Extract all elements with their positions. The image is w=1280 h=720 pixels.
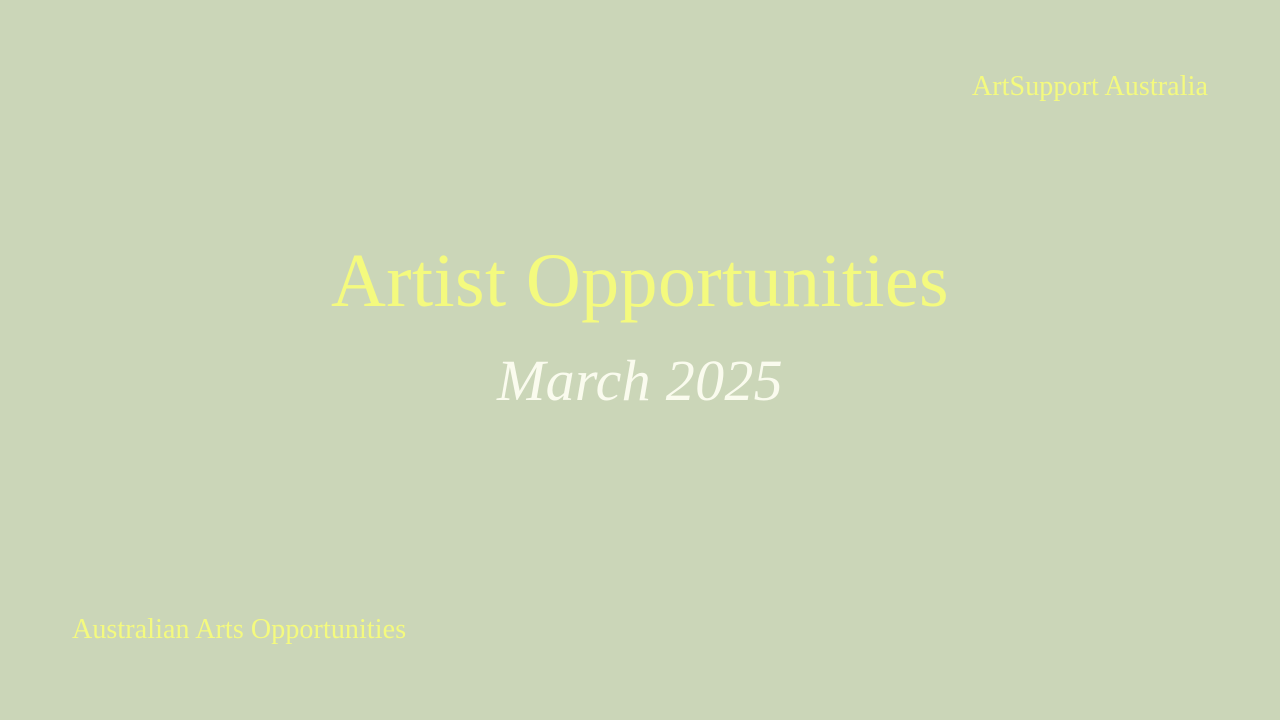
- header-organisation: ArtSupport Australia: [972, 70, 1208, 103]
- title-slide: ArtSupport Australia Artist Opportunitie…: [0, 0, 1280, 720]
- page-title: Artist Opportunities: [0, 238, 1280, 325]
- footer-series-label: Australian Arts Opportunities: [72, 613, 406, 646]
- page-subtitle-date: March 2025: [0, 347, 1280, 414]
- title-block: Artist Opportunities March 2025: [0, 238, 1280, 414]
